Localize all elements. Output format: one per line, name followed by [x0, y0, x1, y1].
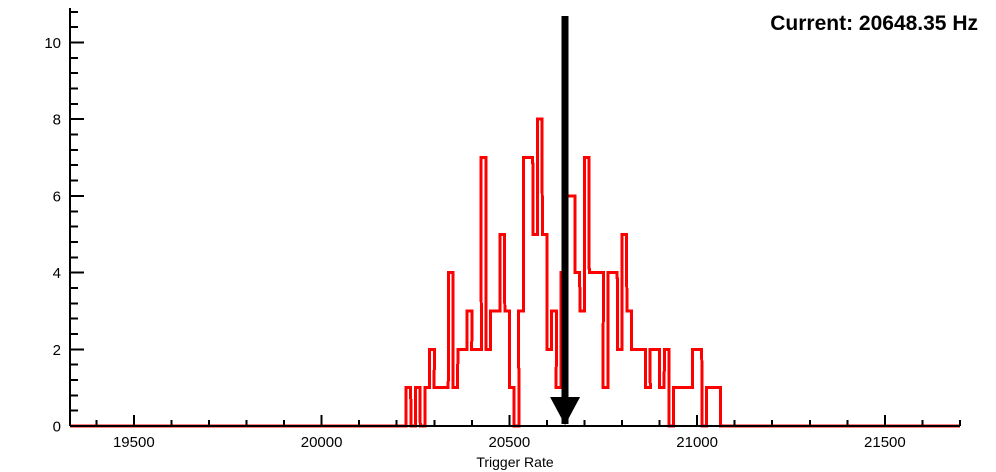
root-canvas: 19500200002050021000215000246810Trigger …	[0, 0, 996, 472]
y-tick-label: 10	[44, 35, 61, 52]
current-rate-label: Current: 20648.35 Hz	[770, 12, 978, 36]
y-tick-label: 0	[53, 419, 61, 436]
x-axis-title: Trigger Rate	[476, 454, 554, 470]
x-tick-label: 19500	[113, 434, 155, 451]
x-tick-label: 21000	[676, 434, 718, 451]
y-tick-label: 6	[53, 188, 61, 205]
y-tick-label: 8	[53, 112, 61, 129]
histogram-plot: 19500200002050021000215000246810Trigger …	[0, 0, 996, 472]
plot-background	[0, 0, 996, 472]
x-tick-label: 20000	[301, 434, 343, 451]
y-tick-label: 2	[53, 342, 61, 359]
x-tick-label: 20500	[489, 434, 531, 451]
x-tick-label: 21500	[864, 434, 906, 451]
y-tick-label: 4	[53, 265, 61, 282]
